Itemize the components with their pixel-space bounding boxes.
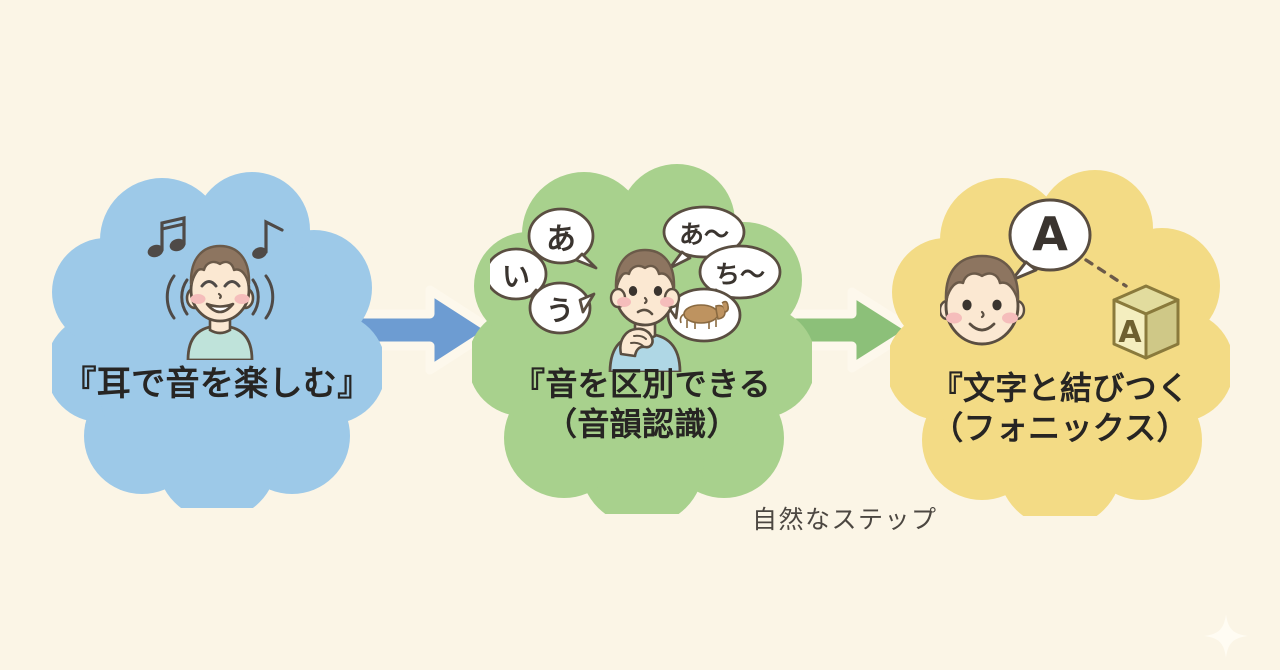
dashed-connector bbox=[1086, 260, 1126, 286]
svg-text:あ〜: あ〜 bbox=[679, 220, 729, 249]
svg-text:う: う bbox=[546, 294, 574, 327]
sparkle-icon bbox=[1198, 608, 1254, 664]
illustration-boy-letter-a: A A bbox=[940, 188, 1180, 363]
illustration-smiling-boy bbox=[140, 210, 300, 360]
speech-bubble-letter-a: A bbox=[1010, 200, 1090, 280]
svg-text:あ: あ bbox=[546, 222, 576, 257]
flow-caption: 自然なステップ bbox=[752, 500, 938, 536]
step-phonemic-awareness[interactable]: あ い う あ〜 ち〜 bbox=[472, 162, 812, 514]
illustration-thinking-boy: あ い う あ〜 ち〜 bbox=[490, 202, 800, 372]
step-label-phonics-line1: 『文字と結びつく bbox=[890, 370, 1230, 408]
diagram-canvas: 『耳で音を楽しむ』 あ bbox=[0, 0, 1280, 670]
step-phonics[interactable]: A A bbox=[890, 168, 1230, 516]
speech-bubble-u: う bbox=[530, 283, 594, 333]
step-label-phonemic-line1: 『音を区別できる bbox=[472, 366, 812, 404]
music-note-icon bbox=[251, 222, 282, 261]
sound-wave-icon bbox=[167, 276, 187, 318]
letter-a-block-icon: A bbox=[1114, 286, 1178, 358]
music-note-icon bbox=[146, 218, 187, 259]
step-label-phonics-line2: （フォニックス） bbox=[890, 410, 1230, 448]
boy-face-smiling bbox=[940, 256, 1024, 344]
svg-text:A: A bbox=[1032, 207, 1068, 261]
boy-thinking-figure bbox=[610, 250, 680, 372]
step-listening[interactable]: 『耳で音を楽しむ』 bbox=[52, 168, 382, 508]
svg-text:い: い bbox=[502, 260, 530, 293]
step-label-listening: 『耳で音を楽しむ』 bbox=[52, 364, 382, 404]
sound-wave-icon bbox=[253, 276, 273, 318]
step-label-phonemic-line2: （音韻認識） bbox=[472, 406, 812, 444]
svg-text:ち〜: ち〜 bbox=[715, 260, 765, 289]
svg-text:A: A bbox=[1118, 315, 1142, 350]
